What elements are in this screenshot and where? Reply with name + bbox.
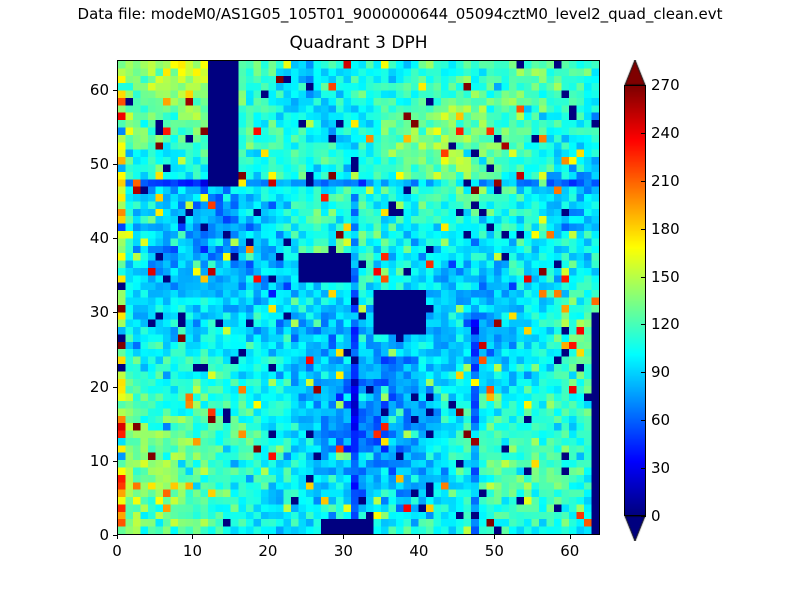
colorbar-tick-mark — [641, 372, 646, 373]
y-tick-mark — [113, 164, 117, 165]
colorbar-body — [624, 85, 646, 516]
y-tick-label: 20 — [59, 378, 109, 396]
y-tick-label: 10 — [59, 452, 109, 470]
colorbar-tick-mark — [641, 181, 646, 182]
x-tick-label: 0 — [112, 542, 122, 560]
colorbar-tick-label: 30 — [651, 459, 670, 477]
y-tick-label: 0 — [59, 526, 109, 544]
y-tick-label: 60 — [59, 81, 109, 99]
y-tick-label: 40 — [59, 229, 109, 247]
colorbar-tick-label: 270 — [651, 76, 680, 94]
y-tick-mark — [113, 461, 117, 462]
figure-canvas: Data file: modeM0/AS1G05_105T01_90000006… — [0, 0, 800, 600]
colorbar-tick-mark — [641, 420, 646, 421]
x-tick-mark — [419, 535, 420, 539]
x-tick-label: 60 — [560, 542, 579, 560]
x-tick-mark — [494, 535, 495, 539]
y-tick-mark — [113, 238, 117, 239]
colorbar-tick-mark — [641, 133, 646, 134]
data-file-label: Data file: modeM0/AS1G05_105T01_90000006… — [0, 5, 800, 23]
y-tick-mark — [113, 535, 117, 536]
colorbar-tick-mark — [641, 516, 646, 517]
colorbar-gradient — [625, 86, 645, 515]
y-tick-label: 30 — [59, 303, 109, 321]
colorbar-tick-label: 150 — [651, 268, 680, 286]
x-tick-label: 10 — [183, 542, 202, 560]
colorbar-tick-label: 0 — [651, 507, 661, 525]
y-tick-mark — [113, 90, 117, 91]
x-tick-mark — [570, 535, 571, 539]
colorbar-tick-label: 180 — [651, 220, 680, 238]
x-tick-mark — [343, 535, 344, 539]
colorbar-tick-mark — [641, 468, 646, 469]
x-tick-label: 30 — [334, 542, 353, 560]
colorbar-tick-mark — [641, 277, 646, 278]
colorbar-tick-label: 90 — [651, 363, 670, 381]
colorbar-extend-max-arrow-icon — [624, 60, 646, 85]
x-tick-label: 20 — [258, 542, 277, 560]
colorbar-tick-label: 210 — [651, 172, 680, 190]
colorbar-tick-label: 240 — [651, 124, 680, 142]
colorbar-tick-mark — [641, 324, 646, 325]
heatmap-image[interactable] — [118, 61, 599, 534]
y-tick-label: 50 — [59, 155, 109, 173]
colorbar-tick-label: 120 — [651, 315, 680, 333]
heatmap-axes[interactable] — [117, 60, 600, 535]
colorbar-tick-mark — [641, 229, 646, 230]
y-tick-mark — [113, 312, 117, 313]
x-tick-mark — [117, 535, 118, 539]
x-tick-label: 50 — [485, 542, 504, 560]
x-tick-mark — [192, 535, 193, 539]
x-tick-mark — [268, 535, 269, 539]
plot-title: Quadrant 3 DPH — [117, 33, 600, 53]
colorbar-tick-label: 60 — [651, 411, 670, 429]
x-tick-label: 40 — [409, 542, 428, 560]
colorbar-extend-min-arrow-icon — [624, 516, 646, 541]
colorbar-tick-mark — [641, 85, 646, 86]
colorbar[interactable] — [624, 60, 646, 535]
y-tick-mark — [113, 387, 117, 388]
